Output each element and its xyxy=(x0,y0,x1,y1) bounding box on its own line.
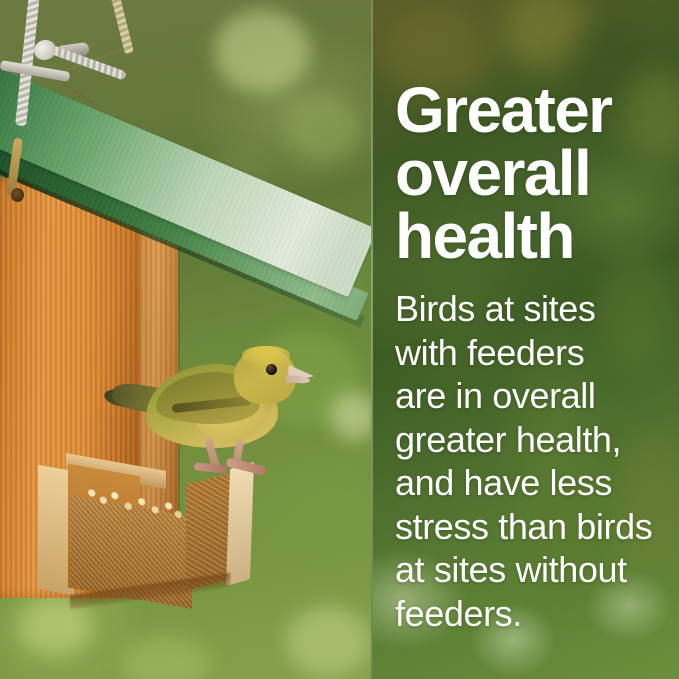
bird-foot xyxy=(194,462,229,474)
body-copy: Birds at sites with feeders are in overa… xyxy=(395,287,679,635)
bird-crown xyxy=(242,346,290,364)
foliage-blob xyxy=(501,0,591,70)
bird-feeder-photo xyxy=(0,0,371,679)
poster-root: Greater overall health Birds at sites wi… xyxy=(0,0,679,679)
greenfinch-bird xyxy=(116,338,312,498)
text-panel: Greater overall health Birds at sites wi… xyxy=(373,0,679,679)
feeder-peg-tip xyxy=(11,188,24,202)
bird-foot xyxy=(226,457,267,475)
headline: Greater overall health xyxy=(395,79,679,268)
bird-eye xyxy=(266,364,277,375)
